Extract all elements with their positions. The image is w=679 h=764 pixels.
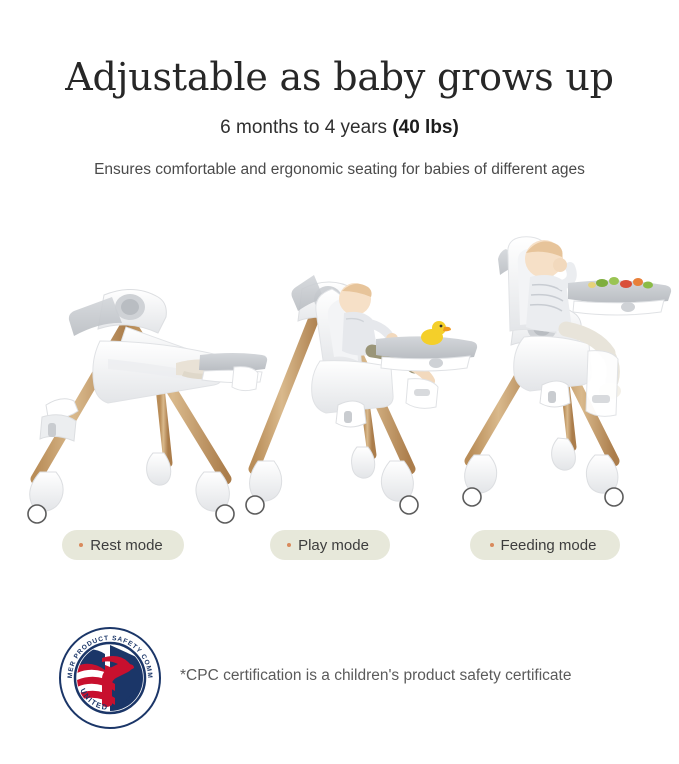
mode-label-row: Rest mode Play mode Feeding mode [0,530,679,562]
mode-pill-rest[interactable]: Rest mode [62,530,184,560]
mode-pill-play[interactable]: Play mode [270,530,390,560]
footrest [406,379,438,409]
product-infographic: { "header": { "headline": "Adjustable as… [0,0,679,764]
bullet-dot-icon [287,543,291,547]
mode-label-rest: Rest mode [90,538,163,553]
mode-label-play: Play mode [298,538,369,553]
mode-pill-feeding[interactable]: Feeding mode [470,530,620,560]
age-range-subtitle: 6 months to 4 years (40 lbs) [0,117,679,140]
weight-limit-text: (40 lbs) [392,117,459,138]
chair-illustration-row [0,215,679,525]
recline-lever [40,399,78,441]
recline-lever [336,401,366,427]
bullet-dot-icon [79,543,83,547]
chair-illustration-feeding [442,225,678,525]
rear-leg [246,303,320,514]
certification-block: CONSUMER PRODUCT SAFETY COMMISSION UNITE… [0,622,679,732]
page-title: Adjustable as baby grows up [0,55,679,100]
age-range-text: 6 months to 4 years [220,117,392,138]
footrest [586,351,618,417]
cpsc-seal-icon: CONSUMER PRODUCT SAFETY COMMISSION UNITE… [58,626,162,730]
cpc-note-text: *CPC certification is a children's produ… [180,668,571,684]
bullet-dot-icon [490,543,494,547]
recline-lever [540,381,570,407]
support-leg [147,387,171,485]
header-block: Adjustable as baby grows up 6 months to … [0,0,679,179]
tagline-text: Ensures comfortable and ergonomic seatin… [0,160,679,179]
tray [568,280,671,315]
mode-label-feeding: Feeding mode [501,538,597,553]
